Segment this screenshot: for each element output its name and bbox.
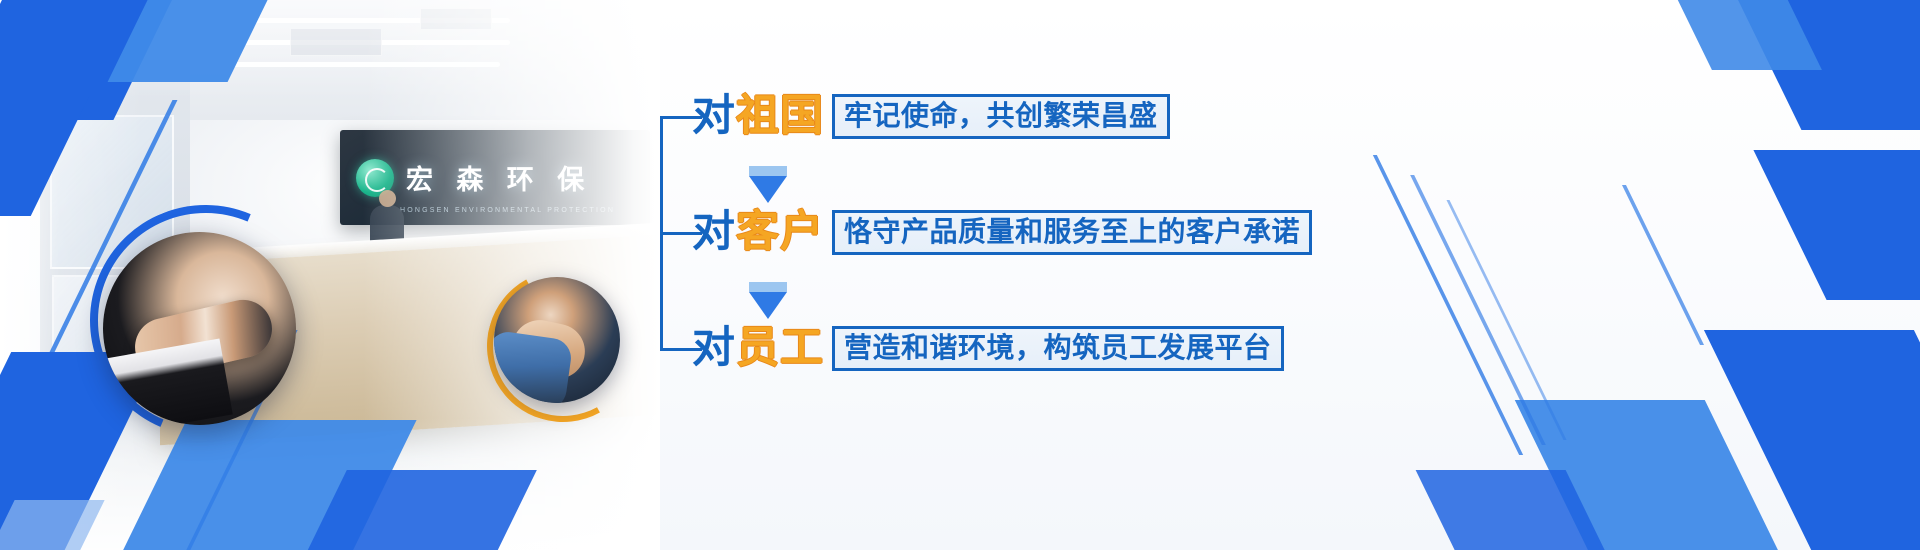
philosophy-row-customer: 对客户 恪守产品质量和服务至上的客户承诺 [692, 204, 1312, 260]
philosophy-lead-country: 对祖国 [692, 95, 824, 138]
deco-shape-right-1 [1719, 0, 1920, 130]
lead-keyword-customer: 客户 [736, 207, 824, 257]
philosophy-tag-employee: 营造和谐环境，构筑员工发展平台 [832, 326, 1284, 371]
deco-line-right-4 [1622, 185, 1704, 345]
deco-shape-right-2 [1668, 0, 1822, 70]
philosophy-row-employee: 对员工 营造和谐环境，构筑员工发展平台 [692, 320, 1284, 376]
philosophy-lead-employee: 对员工 [692, 327, 824, 370]
deco-shape-right-6 [1416, 470, 1615, 550]
philosophy-content: 对祖国 牢记使命，共创繁荣昌盛 对客户 恪守产品质量和服务至上的客户承诺 对员工… [648, 0, 1348, 550]
philosophy-row-country: 对祖国 牢记使命，共创繁荣昌盛 [692, 88, 1170, 144]
lead-prefix-customer: 对 [692, 207, 736, 257]
deco-line-right-3 [1446, 200, 1566, 440]
philosophy-tree: 对祖国 牢记使命，共创繁荣昌盛 对客户 恪守产品质量和服务至上的客户承诺 对员工… [648, 92, 1348, 392]
deco-line-right-2 [1410, 175, 1546, 445]
deco-shape-right-3 [1753, 150, 1920, 300]
deco-shape-right-4 [1704, 330, 1920, 550]
lead-keyword-employee: 员工 [736, 323, 824, 373]
philosophy-tag-customer: 恪守产品质量和服务至上的客户承诺 [832, 210, 1312, 255]
philosophy-lead-customer: 对客户 [692, 211, 824, 254]
lead-prefix-country: 对 [692, 91, 736, 141]
philosophy-tag-country: 牢记使命，共创繁荣昌盛 [832, 94, 1170, 139]
lead-keyword-country: 祖国 [736, 91, 824, 141]
lead-prefix-employee: 对 [692, 323, 736, 373]
company-philosophy-banner: 宏 森 环 保 HONGSEN ENVIRONMENTAL PROTECTION [0, 0, 1920, 550]
meeting-photo-circle [494, 277, 620, 403]
handshake-photo-circle [103, 232, 296, 425]
